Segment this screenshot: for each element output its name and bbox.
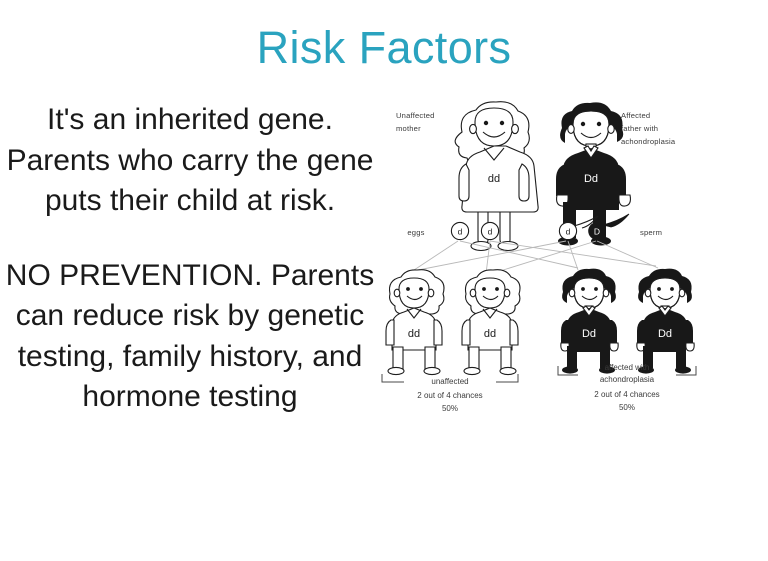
page-title: Risk Factors (0, 24, 768, 71)
body-paragraph-2: NO PREVENTION. Parents can reduce risk b… (4, 256, 376, 418)
child-figure-4: Dd (637, 269, 694, 374)
child-figure-3: Dd (561, 269, 618, 374)
outcome-1-chances: 2 out of 4 chances (417, 391, 482, 400)
mother-label-line-1: Unaffected (396, 111, 435, 120)
father-genotype: Dd (584, 173, 598, 185)
father-label-line-2: father with (621, 124, 658, 133)
outcome-1-title: unaffected (431, 377, 468, 386)
mother-genotype: dd (488, 173, 500, 185)
child-1-genotype: dd (408, 328, 420, 340)
child-4-genotype: Dd (658, 328, 672, 340)
child-2-genotype: dd (484, 328, 496, 340)
paragraph-spacer (4, 222, 376, 256)
slide-canvas: Risk Factors It's an inherited gene. Par… (0, 0, 768, 561)
egg-1-allele: d (458, 226, 463, 236)
inheritance-diagram: Unaffected mother Affected father with a… (378, 98, 764, 428)
sperm-1-allele: d (566, 226, 571, 236)
eggs-label: eggs (407, 228, 424, 237)
child-figure-2: dd (462, 270, 520, 375)
body-text-block: It's an inherited gene. Parents who carr… (4, 100, 376, 418)
outcome-2-chances: 2 out of 4 chances (594, 390, 659, 399)
outcome-2-percent: 50% (619, 403, 635, 412)
child-3-genotype: Dd (582, 328, 596, 340)
inheritance-cross-lines (408, 241, 658, 276)
father-label-line-1: Affected (621, 111, 650, 120)
outcome-2-title-line-1: affected with (605, 363, 650, 372)
outcome-1-percent: 50% (442, 404, 458, 413)
sperm-2-allele: D (594, 226, 600, 236)
egg-2-allele: d (488, 226, 493, 236)
sperm-label: sperm (640, 228, 662, 237)
body-paragraph-1: It's an inherited gene. Parents who carr… (4, 100, 376, 222)
outcome-2-title-line-2: achondroplasia (600, 375, 655, 384)
egg-1: d (451, 222, 468, 239)
egg-2: d (481, 222, 498, 239)
mother-label-line-2: mother (396, 124, 421, 133)
father-label-line-3: achondroplasia (621, 137, 676, 146)
child-figure-1: dd (386, 270, 444, 375)
outcome-unaffected: unaffected 2 out of 4 chances 50% (382, 374, 518, 413)
